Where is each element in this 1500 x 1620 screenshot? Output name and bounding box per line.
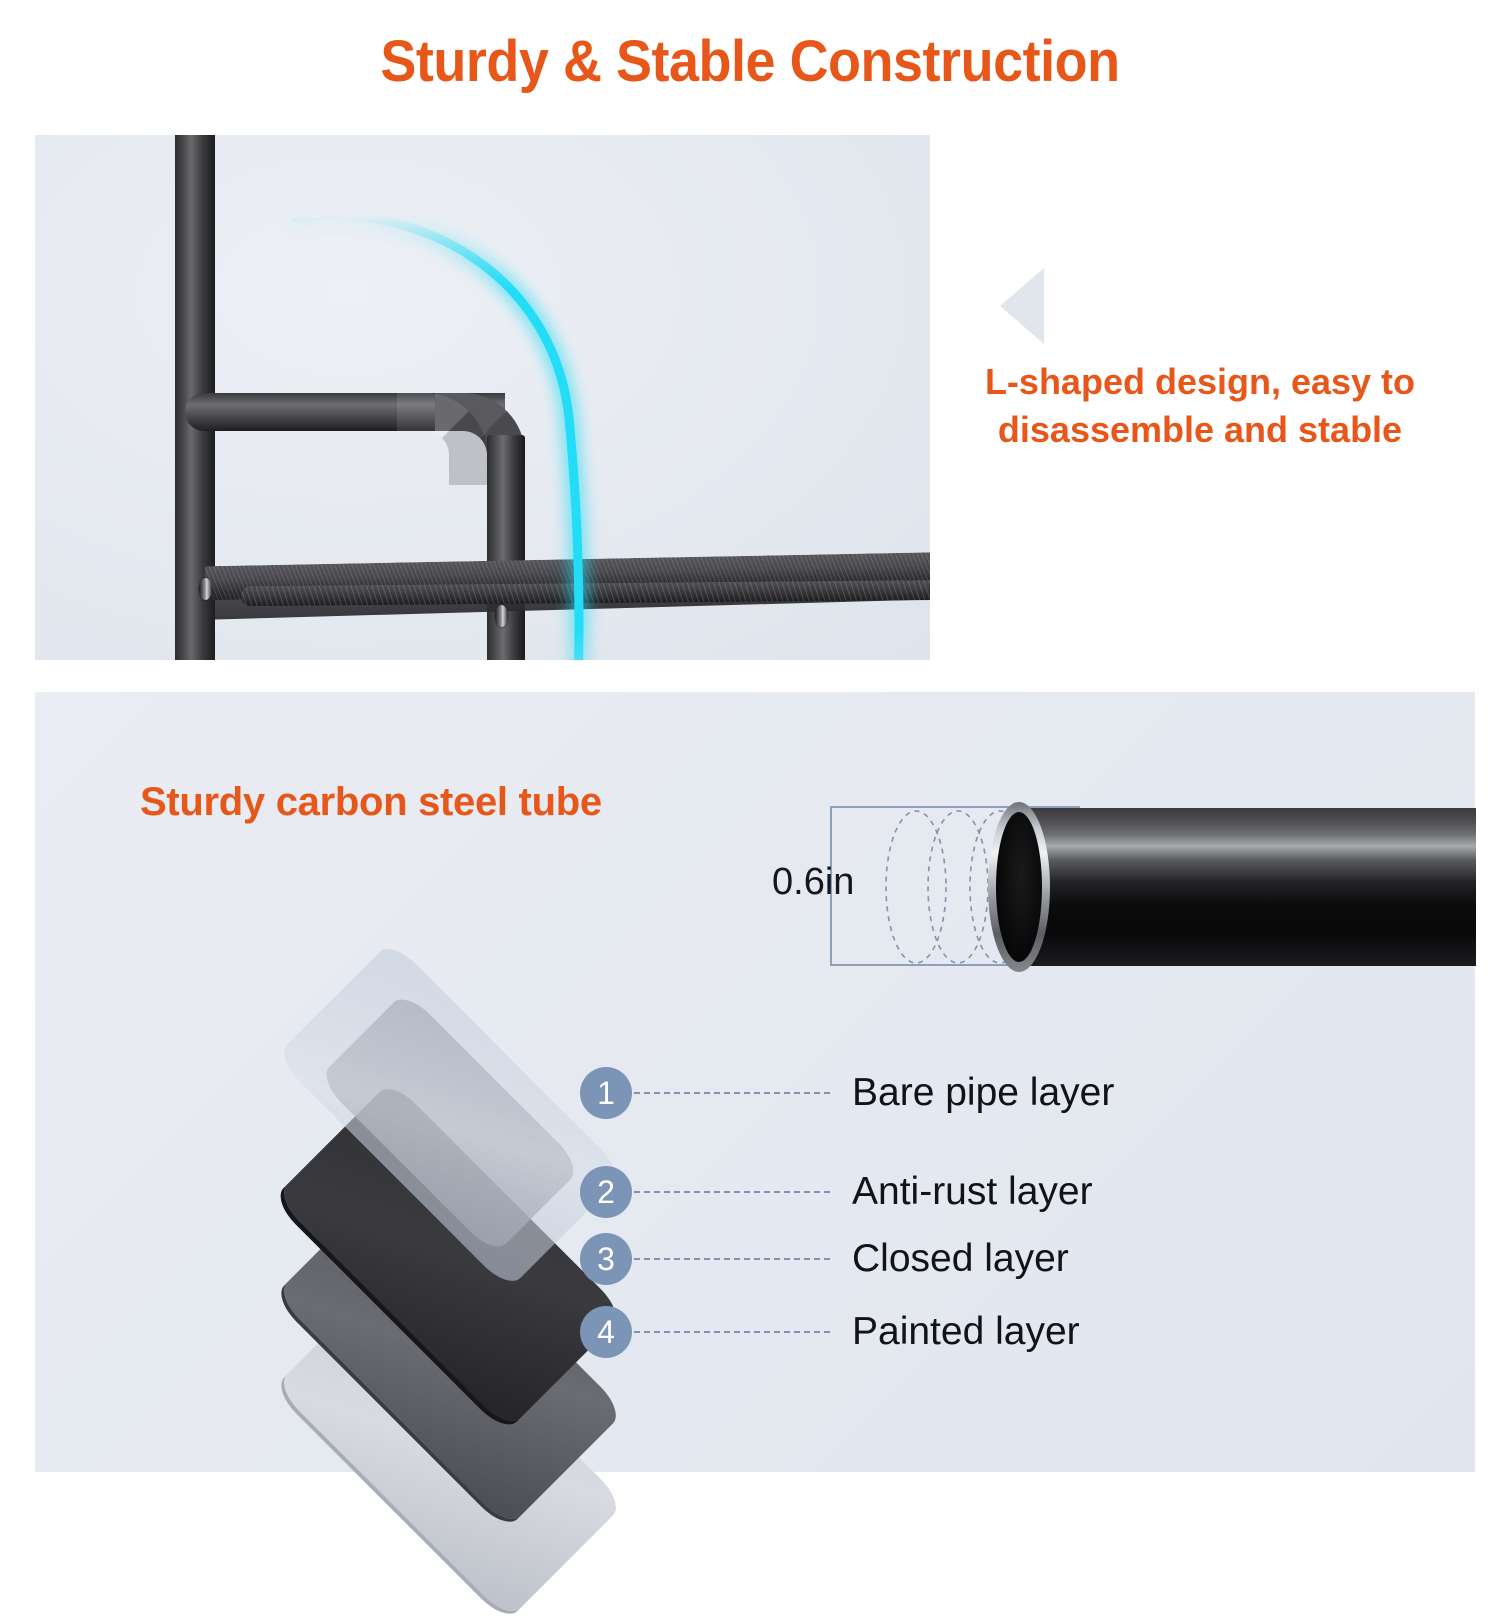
panel-l-shape-photo: [35, 135, 930, 660]
tube-diameter-label: 0.6in: [772, 861, 854, 904]
leader-line-icon: [634, 1092, 830, 1094]
rack-rivet: [495, 605, 508, 627]
rack-rivet: [199, 578, 212, 600]
layer-callout-4: 4 Painted layer: [580, 1305, 1080, 1359]
layer-badge-4: 4: [580, 1306, 632, 1358]
layer-label-2: Anti-rust layer: [852, 1170, 1093, 1214]
layer-label-1: Bare pipe layer: [852, 1071, 1114, 1115]
layer-badge-3: 3: [580, 1233, 632, 1285]
leader-line-icon: [634, 1258, 830, 1260]
steel-tube-heading: Sturdy carbon steel tube: [140, 780, 602, 825]
layer-callout-1: 1 Bare pipe layer: [580, 1066, 1114, 1120]
leader-line-icon: [634, 1191, 830, 1193]
panel-bottom-notch: [35, 1472, 140, 1500]
layer-callout-3: 3 Closed layer: [580, 1232, 1069, 1286]
page-title: Sturdy & Stable Construction: [53, 28, 1448, 95]
leader-line-icon: [634, 1331, 830, 1333]
layer-label-3: Closed layer: [852, 1237, 1069, 1281]
tube-bore: [996, 812, 1042, 962]
rack-vertical-post-mid: [487, 435, 525, 660]
layer-badge-2: 2: [580, 1166, 632, 1218]
l-shape-caption: L-shaped design, easy to disassemble and…: [980, 358, 1420, 454]
steel-tube-icon: [1016, 808, 1476, 966]
left-triangle-icon: [1000, 268, 1044, 344]
layer-badge-1: 1: [580, 1067, 632, 1119]
layer-label-4: Painted layer: [852, 1310, 1080, 1354]
layer-callout-2: 2 Anti-rust layer: [580, 1165, 1093, 1219]
